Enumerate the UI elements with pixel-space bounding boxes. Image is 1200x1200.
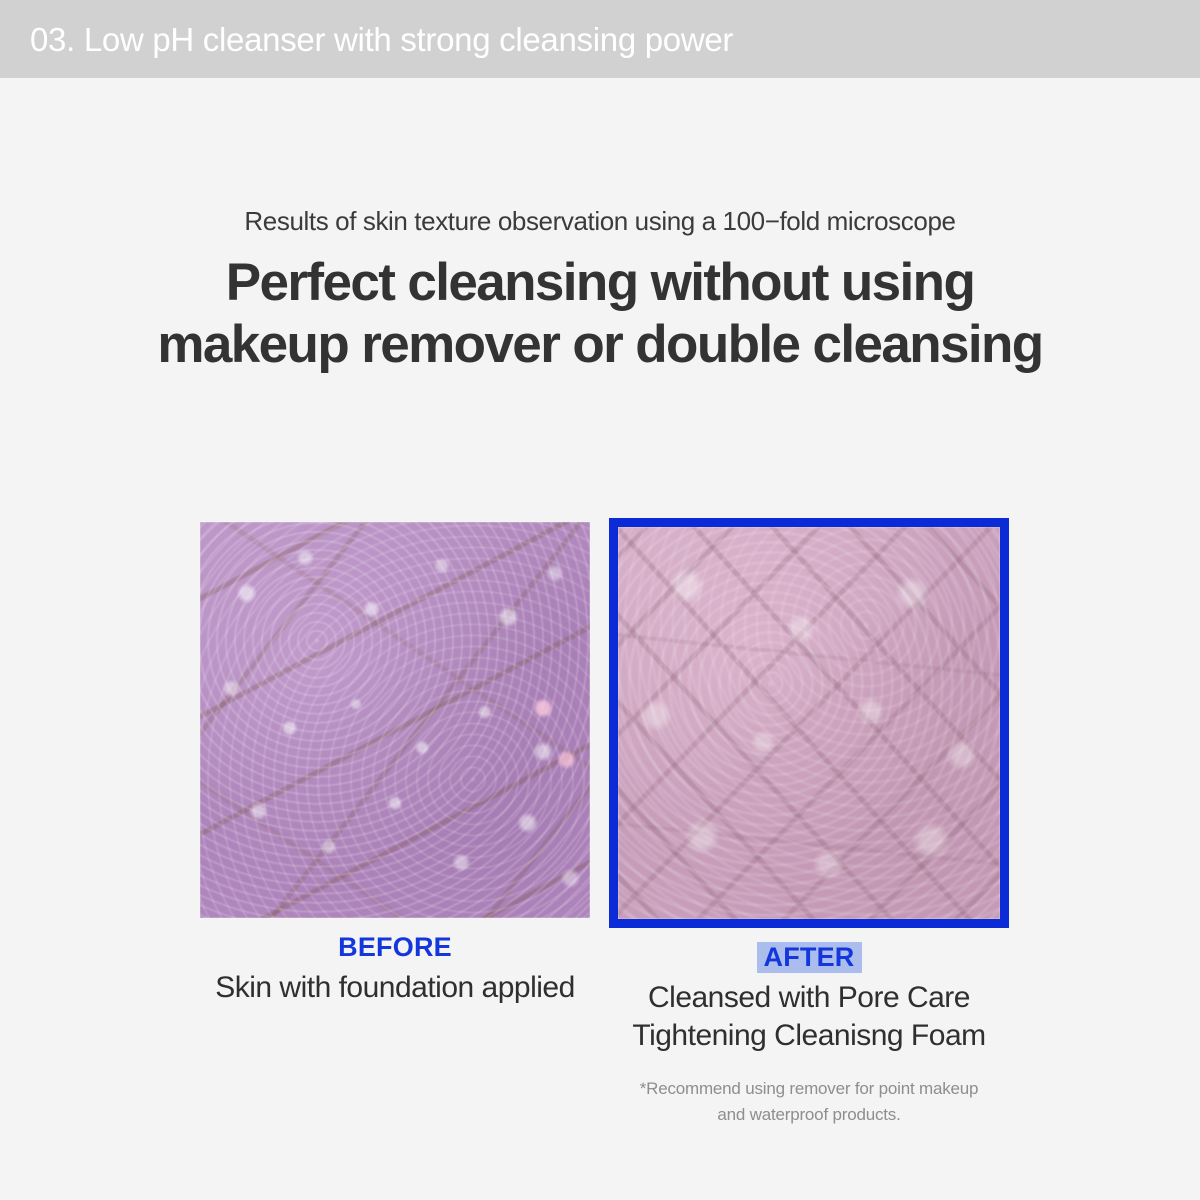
photo-before (200, 522, 590, 918)
intro-text-block: Results of skin texture observation usin… (0, 205, 1200, 377)
microscope-skin-texture-after-image (618, 527, 1000, 919)
caption-after-line-2: Tightening Cleanisng Foam (609, 1017, 1009, 1055)
caption-before-line-1: Skin with foundation applied (195, 969, 595, 1007)
caption-before: BEFORE Skin with foundation applied (195, 932, 595, 1007)
eyebrow-text: Results of skin texture observation usin… (0, 205, 1200, 238)
footnote: *Recommend using remover for point makeu… (609, 1076, 1009, 1127)
photo-after (609, 518, 1009, 928)
page-title: Perfect cleansing without using makeup r… (0, 252, 1200, 377)
section-header-bar: 03. Low pH cleanser with strong cleansin… (0, 0, 1200, 78)
caption-after: AFTER Cleansed with Pore Care Tightening… (609, 942, 1009, 1127)
headline-line-1: Perfect cleansing without using (0, 252, 1200, 315)
headline-line-2: makeup remover or double cleansing (0, 314, 1200, 377)
panel-before: BEFORE Skin with foundation applied (195, 518, 595, 1007)
caption-before-text: Skin with foundation applied (195, 969, 595, 1007)
caption-after-text: Cleansed with Pore Care Tightening Clean… (609, 979, 1009, 1054)
microscope-skin-texture-before-image (200, 522, 590, 918)
after-label: AFTER (757, 942, 862, 973)
footnote-line-1: *Recommend using remover for point makeu… (609, 1076, 1009, 1102)
panel-after: AFTER Cleansed with Pore Care Tightening… (609, 518, 1009, 1127)
before-after-comparison: BEFORE Skin with foundation applied AFTE… (0, 518, 1200, 1118)
section-header-title: 03. Low pH cleanser with strong cleansin… (30, 23, 733, 56)
caption-after-line-1: Cleansed with Pore Care (609, 979, 1009, 1017)
before-label: BEFORE (338, 932, 452, 963)
footnote-line-2: and waterproof products. (609, 1102, 1009, 1128)
